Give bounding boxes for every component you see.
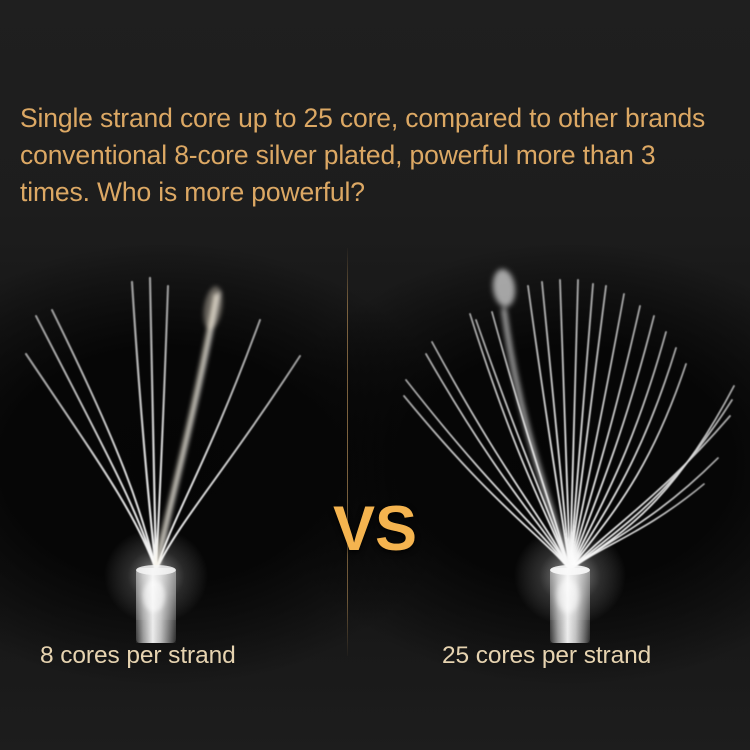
wire-sheath-right xyxy=(550,565,590,643)
vs-label: VS xyxy=(0,498,750,561)
wire-illustration-25-core xyxy=(400,258,740,643)
product-comparison-banner: Single strand core up to 25 core, compar… xyxy=(0,0,750,750)
wire-sheath-left xyxy=(136,565,176,643)
wire-photo-left-8-core xyxy=(8,258,348,643)
wire-photo-right-25-core xyxy=(400,258,740,643)
headline-text: Single strand core up to 25 core, compar… xyxy=(20,100,732,211)
wire-illustration-8-core xyxy=(8,258,348,643)
caption-left-8-cores: 8 cores per strand xyxy=(40,640,236,672)
caption-right-25-cores: 25 cores per strand xyxy=(442,640,651,672)
vertical-divider xyxy=(347,248,348,656)
